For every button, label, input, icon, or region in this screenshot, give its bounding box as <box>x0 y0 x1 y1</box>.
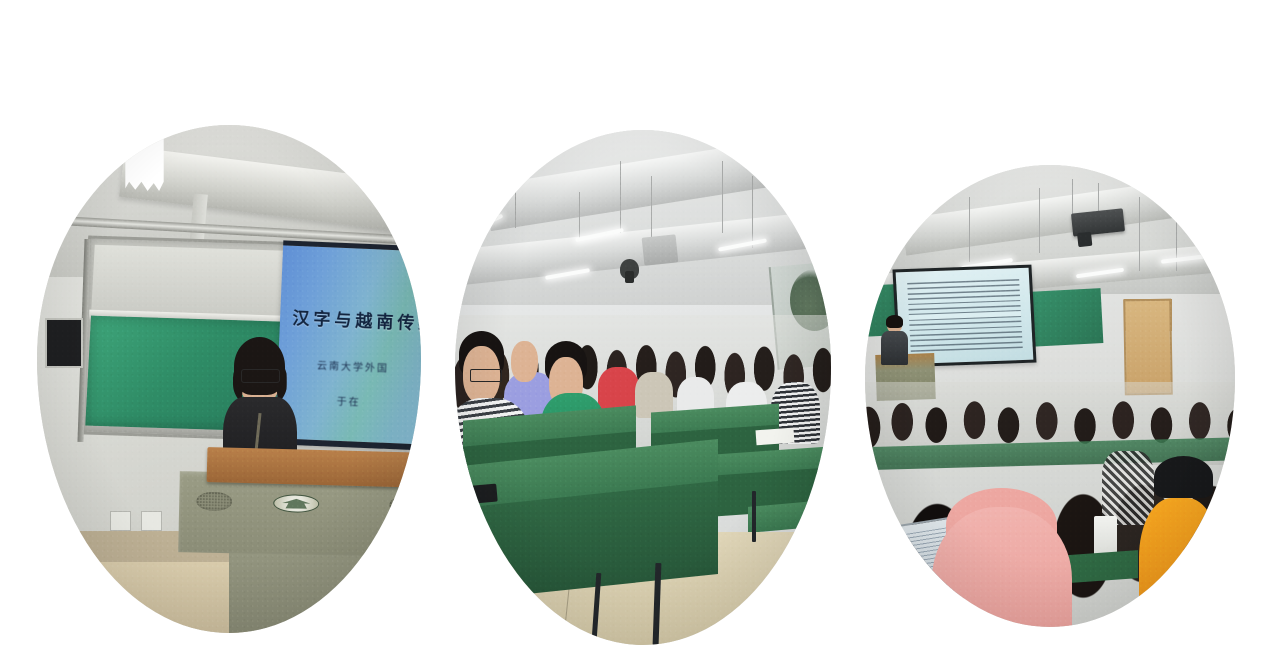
presenter-torso <box>881 331 908 365</box>
lamp-suspension-wire <box>579 192 580 238</box>
security-camera-icon <box>620 259 639 280</box>
lamp-suspension-wire <box>1039 188 1040 253</box>
podium-base <box>229 548 373 633</box>
notebook-paper <box>755 427 794 445</box>
presenter <box>880 317 910 363</box>
student-glasses <box>470 369 502 381</box>
photo-speaker-at-podium[interactable]: 汉字与越南传统 云南大学外国 于在 <box>37 125 421 633</box>
wall-speaker <box>642 234 679 266</box>
university-emblem-icon <box>273 495 320 514</box>
lamp-suspension-wire <box>651 176 652 243</box>
wall-speaker-panel <box>45 318 84 368</box>
wall-socket <box>110 511 131 531</box>
presenter-glasses <box>241 369 280 383</box>
lamp-suspension-wire <box>969 197 970 262</box>
student-face <box>511 341 537 382</box>
green-chalkboard <box>1026 288 1103 347</box>
photo-collage: 汉字与越南传统 云南大学外国 于在 <box>0 0 1280 672</box>
presenter-hair <box>886 315 904 328</box>
slide-subtitle-presenter: 于在 <box>336 393 421 418</box>
chalkboard-upper-panel <box>92 245 309 317</box>
right-scene <box>865 165 1235 627</box>
mid-scene <box>455 130 831 645</box>
photo-lecture-hall-from-back[interactable] <box>865 165 1235 627</box>
desk-leg <box>752 491 756 543</box>
wall-socket <box>141 511 162 531</box>
student-jacket-orange <box>1139 498 1220 627</box>
mobile-phone <box>462 484 497 505</box>
podium-speaker-grille-left <box>196 491 232 511</box>
student-shirt-patterned <box>1102 451 1154 525</box>
crop-notch-artifact <box>125 125 163 191</box>
lamp-suspension-wire <box>722 161 723 233</box>
presenter-hair-top <box>234 337 285 396</box>
podium-speaker-grille-right <box>389 495 421 515</box>
left-scene: 汉字与越南传统 云南大学外国 于在 <box>37 125 421 633</box>
lamp-suspension-wire <box>1139 197 1140 271</box>
baseball-cap <box>1154 456 1213 498</box>
lectern-podium <box>179 450 421 633</box>
lamp-suspension-wire <box>620 161 621 233</box>
podium-desktop <box>206 447 421 487</box>
photo-student-audience[interactable] <box>455 130 831 645</box>
slide-title: 汉字与越南传统 <box>292 304 421 338</box>
slide-subtitle-affiliation: 云南大学外国 <box>317 357 421 382</box>
lamp-suspension-wire <box>515 176 516 228</box>
projection-screen <box>892 264 1036 367</box>
lamp-suspension-wire <box>752 176 753 248</box>
